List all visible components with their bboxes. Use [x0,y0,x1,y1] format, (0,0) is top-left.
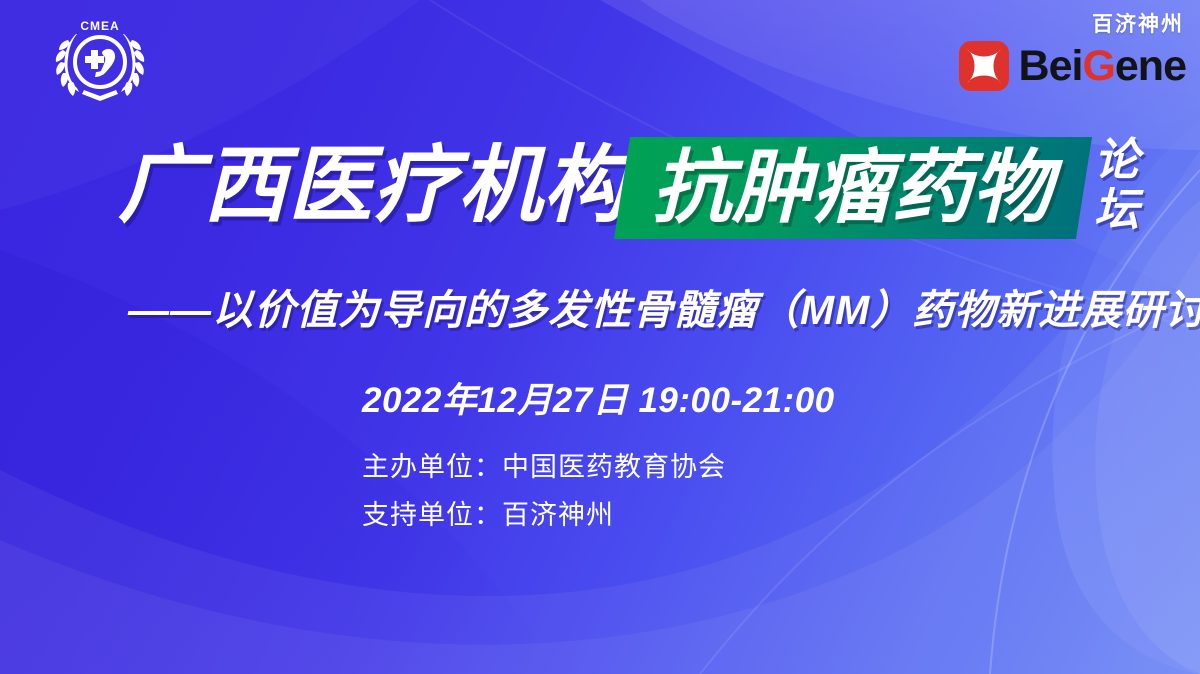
organizer-host: 主办单位：中国医药教育协会 [362,443,726,491]
beigene-logo-row: BeiGene [958,40,1186,92]
cmea-emblem-icon: CMEA [44,12,156,104]
beigene-word-bei: Bei [1019,42,1083,90]
organizer-list: 主办单位：中国医药教育协会 支持单位：百济神州 [362,443,726,539]
event-poster: CMEA 百济神州 BeiGene [0,0,1200,674]
title-highlight-banner: 抗肿瘤药物 [634,137,1068,239]
title-banner-text: 抗肿瘤药物 [634,137,1068,239]
background-waves-svg [0,0,1200,674]
beigene-word-g: G [1082,42,1114,90]
beigene-mark-icon [958,40,1010,92]
event-datetime: 2022年12月27日 19:00-21:00 [362,378,835,423]
background-decoration [0,0,1200,674]
beigene-square-icon [958,40,1010,92]
title-suffix: 论 坛 [1094,135,1139,235]
title-suffix-line-1: 论 [1094,135,1139,185]
title-main: 广西医疗机构 [118,133,628,237]
beigene-chinese-name: 百济神州 [1092,14,1184,35]
title-suffix-line-2: 坛 [1094,185,1139,235]
beigene-word-ene: ene [1115,42,1186,90]
title-row: 广西医疗机构 抗肿瘤药物 论 坛 [118,133,1139,239]
cmea-logo: CMEA [44,12,156,104]
subtitle: ——以价值为导向的多发性骨髓瘤（MM）药物新进展研讨会 [128,283,1200,337]
beigene-logo: 百济神州 BeiGene [958,14,1186,92]
organizer-supporter: 支持单位：百济神州 [362,491,726,539]
svg-text:CMEA: CMEA [80,19,119,33]
beigene-wordmark: BeiGene [1019,45,1186,88]
